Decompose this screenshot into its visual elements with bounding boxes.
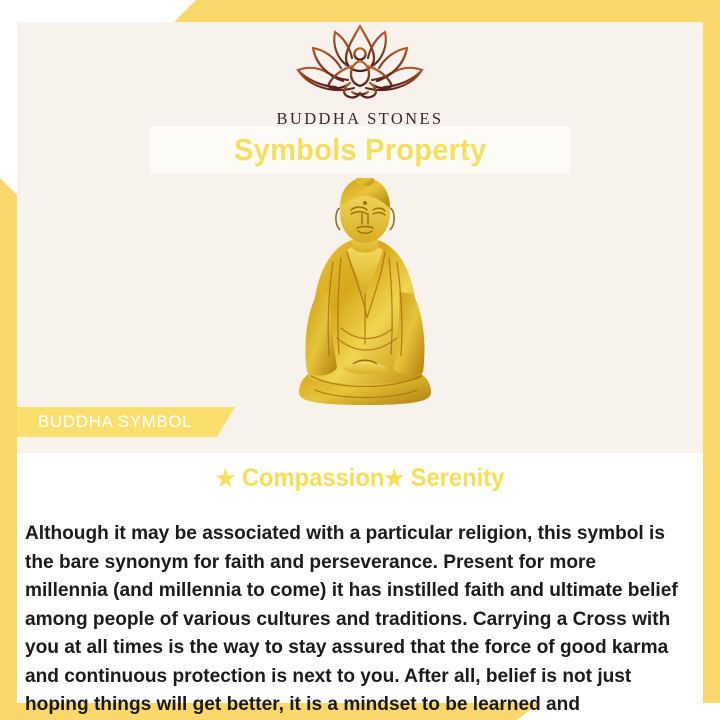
title-banner: Symbols Property — [150, 126, 570, 174]
attribute-serenity: Serenity — [411, 464, 505, 492]
attribute-compassion: Compassion — [242, 464, 385, 492]
symbol-category-label: BUDDHA SYMBOL — [17, 412, 192, 432]
lotus-meditation-icon — [0, 24, 720, 107]
star-icon: ★ — [384, 465, 404, 491]
star-icon: ★ — [216, 465, 236, 491]
poster-root: BUDDHA STONES Symbols Property — [0, 0, 720, 720]
symbol-category-tag: BUDDHA SYMBOL — [17, 407, 235, 437]
page-title: Symbols Property — [234, 132, 486, 168]
top-accent-bar — [0, 0, 720, 22]
brand-block: BUDDHA STONES — [0, 24, 720, 129]
golden-seated-buddha-statue — [281, 178, 449, 413]
subtitle-attributes: ★ Compassion★ Serenity — [34, 464, 686, 493]
left-accent-bar — [0, 178, 17, 703]
description-paragraph: Although it may be associated with a par… — [25, 519, 683, 720]
